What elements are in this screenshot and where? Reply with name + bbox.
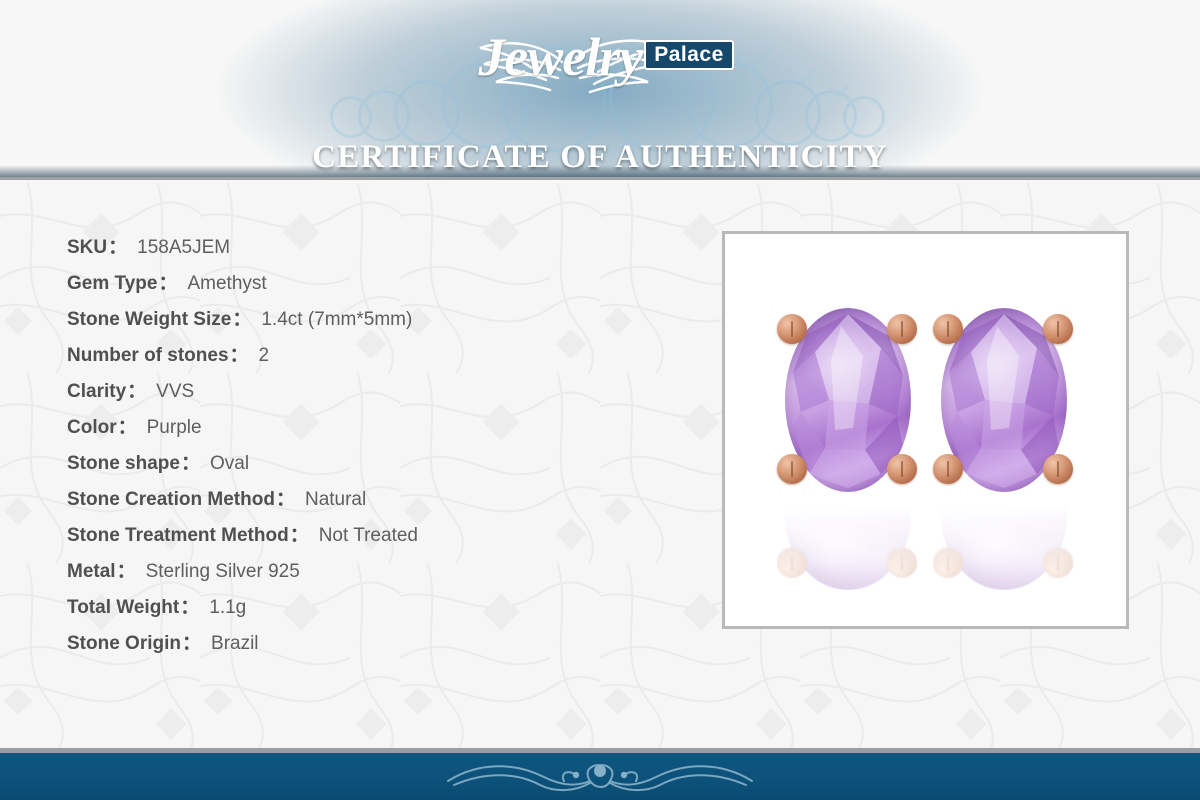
detail-value: Purple: [139, 417, 202, 438]
detail-value: Amethyst: [179, 273, 266, 294]
detail-row: Color：Purple: [67, 410, 667, 446]
prong-icon: [887, 454, 917, 484]
product-photo: [725, 234, 1126, 626]
detail-row: Clarity：VVS: [67, 374, 667, 410]
detail-separator: ：: [117, 417, 139, 438]
detail-value: 1.4ct (7mm*5mm): [253, 309, 412, 330]
detail-label: Stone Weight Size: [67, 309, 231, 330]
certificate-body: SKU：158A5JEM Gem Type：Amethyst Stone Wei…: [0, 183, 1200, 748]
certificate-header: ✦ ✦ ✦ ✦ ✦ ✦: [0, 0, 1200, 180]
rings-decoration-left: ✦ ✦ ✦: [330, 10, 630, 150]
logo-wordmark: Jewelry: [466, 27, 642, 87]
detail-value: VVS: [148, 381, 194, 402]
prong-icon: [887, 314, 917, 344]
detail-label: Stone Treatment Method: [67, 525, 289, 546]
detail-label: Stone shape: [67, 453, 180, 474]
detail-label: Color: [67, 417, 117, 438]
detail-row: Stone Origin：Brazil: [67, 626, 667, 662]
detail-label: Stone Creation Method: [67, 489, 275, 510]
detail-label: Total Weight: [67, 597, 179, 618]
detail-separator: ：: [289, 525, 311, 546]
detail-row: Stone Weight Size：1.4ct (7mm*5mm): [67, 302, 667, 338]
logo-palace-badge: Palace: [644, 40, 734, 70]
butterfly-wings-icon: [458, 28, 698, 120]
gem-details-list: SKU：158A5JEM Gem Type：Amethyst Stone Wei…: [67, 230, 667, 662]
prong-icon: [777, 454, 807, 484]
detail-row: Stone shape：Oval: [67, 446, 667, 482]
detail-label: Number of stones: [67, 345, 229, 366]
detail-separator: ：: [179, 597, 201, 618]
detail-value: Sterling Silver 925: [138, 561, 300, 582]
prong-icon: [1043, 314, 1073, 344]
detail-row: Stone Treatment Method：Not Treated: [67, 518, 667, 554]
earring-item: [933, 302, 1075, 498]
detail-separator: ：: [180, 453, 202, 474]
detail-value: 2: [251, 345, 270, 366]
detail-separator: ：: [116, 561, 138, 582]
detail-row: Total Weight：1.1g: [67, 590, 667, 626]
detail-value: Oval: [202, 453, 249, 474]
detail-value: Not Treated: [311, 525, 418, 546]
detail-separator: ：: [157, 273, 179, 294]
detail-separator: ：: [275, 489, 297, 510]
detail-value: Brazil: [203, 633, 259, 654]
rings-decoration-right: ✦ ✦ ✦: [585, 10, 885, 150]
prong-icon: [1043, 454, 1073, 484]
detail-label: Stone Origin: [67, 633, 181, 654]
detail-row: Stone Creation Method：Natural: [67, 482, 667, 518]
detail-label: Clarity: [67, 381, 126, 402]
reflection: [777, 498, 919, 590]
prong-icon: [933, 454, 963, 484]
detail-value: Natural: [297, 489, 366, 510]
prong-icon: [777, 314, 807, 344]
detail-row: Metal：Sterling Silver 925: [67, 554, 667, 590]
detail-row: Gem Type：Amethyst: [67, 266, 667, 302]
detail-value: 1.1g: [201, 597, 246, 618]
detail-label: Gem Type: [67, 273, 157, 294]
detail-separator: ：: [231, 309, 253, 330]
detail-row: SKU：158A5JEM: [67, 230, 667, 266]
detail-separator: ：: [126, 381, 148, 402]
detail-separator: ：: [229, 345, 251, 366]
earring-item: [777, 302, 919, 498]
reflection: [933, 498, 1075, 590]
product-photo-frame: [722, 231, 1129, 629]
header-divider: [0, 177, 1200, 180]
flourish-ornament-icon: [440, 757, 760, 797]
prong-icon: [933, 314, 963, 344]
detail-separator: ：: [107, 237, 129, 258]
detail-separator: ：: [181, 633, 203, 654]
detail-label: SKU: [67, 237, 107, 258]
detail-row: Number of stones：2: [67, 338, 667, 374]
brand-logo: JewelryPalace: [0, 26, 1200, 122]
detail-label: Metal: [67, 561, 116, 582]
detail-value: 158A5JEM: [129, 237, 230, 258]
certificate-title: CERTIFICATE OF AUTHENTICITY: [0, 139, 1200, 176]
certificate-footer: [0, 753, 1200, 800]
certificate-page: ✦ ✦ ✦ ✦ ✦ ✦: [0, 0, 1200, 800]
